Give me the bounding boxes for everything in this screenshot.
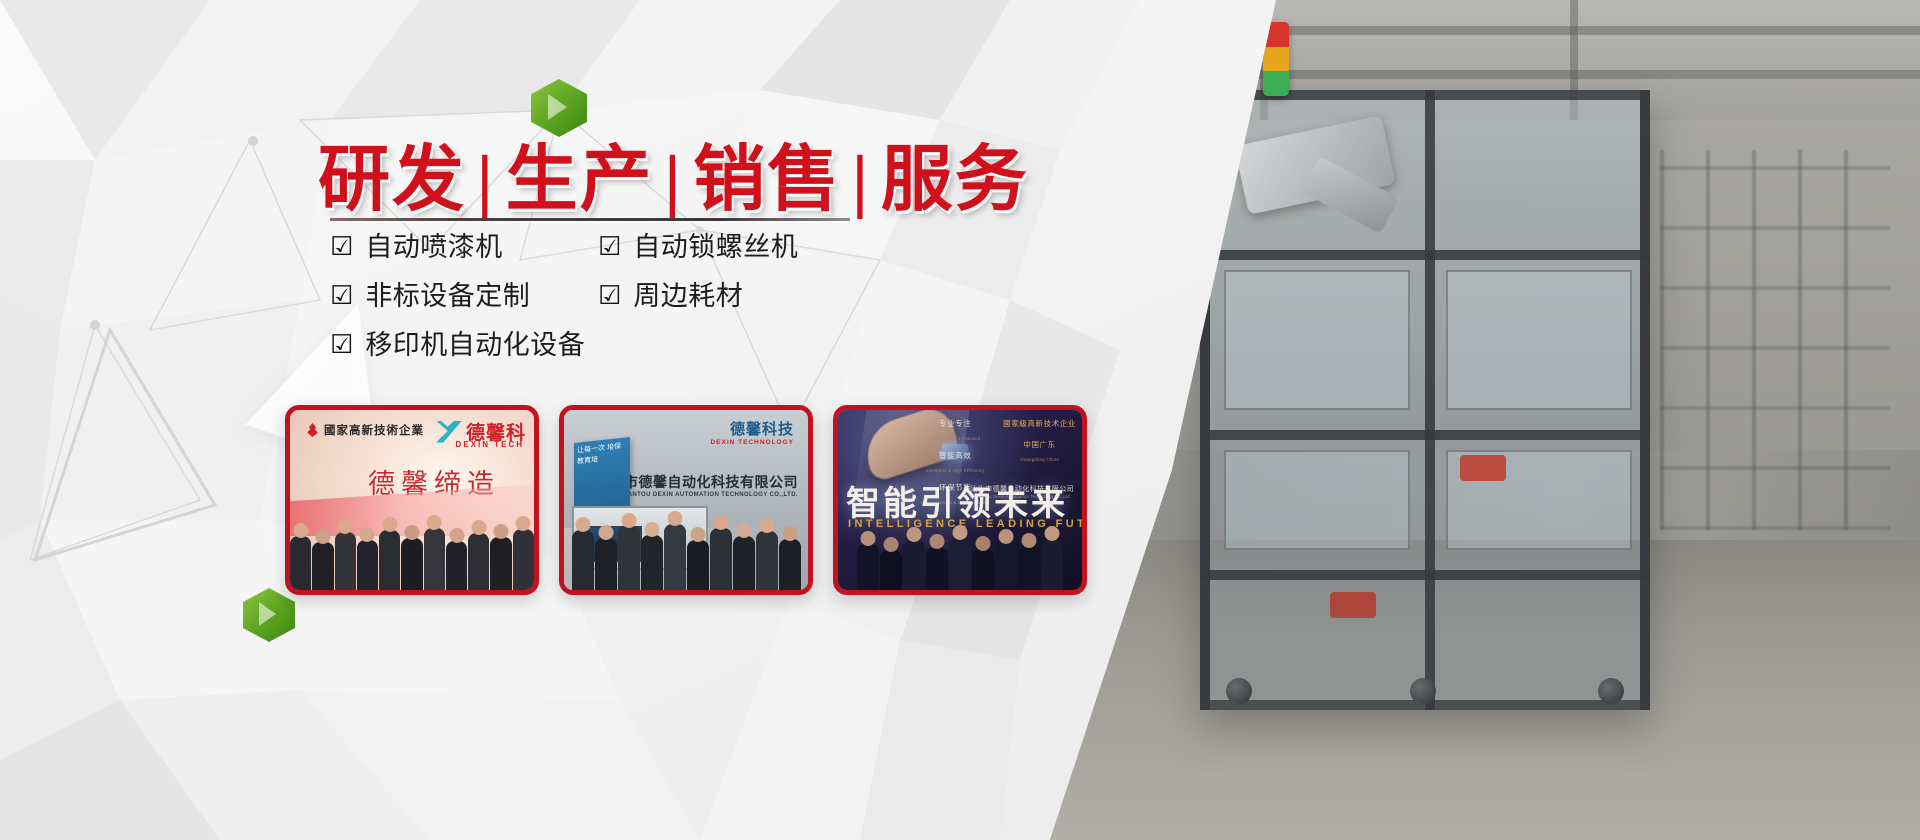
promo-banner: 研发|生产|销售|服务 ☑ 自动喷漆机 ☑ 自动锁螺丝机 ☑ 非标设备定制 ☑ … xyxy=(0,0,1920,840)
poster-text: 让每一次 培保教育培 xyxy=(574,437,630,472)
headline-word-1: 研发 xyxy=(318,137,466,221)
thumbnail-intelligent-future[interactable]: 专业专注 Professional & Focused 智能高效 Intelli… xyxy=(833,405,1087,595)
list-item: ☑ 非标设备定制 xyxy=(330,283,598,310)
flame-icon xyxy=(306,423,319,437)
high-tech-enterprise-badge: 國家高新技術企業 xyxy=(306,422,424,438)
headline-separator: | xyxy=(474,146,498,220)
thumbnail-company-lobby[interactable]: 德馨科技 DEXIN TECHNOLOGY 汕头市德馨自动化科技有限公司 SHA… xyxy=(559,405,813,595)
hexagon-play-icon xyxy=(243,588,295,642)
headline-word-3: 销售 xyxy=(693,137,841,221)
page-title: 研发|生产|销售|服务 xyxy=(318,120,1029,225)
group-photo-people xyxy=(838,498,1082,590)
brand-name-en: DEXIN TECH xyxy=(456,440,524,449)
checkbox-checked-icon: ☑ xyxy=(598,283,621,309)
list-item-label: 周边耗材 xyxy=(633,283,743,310)
headline-word-2: 生产 xyxy=(506,137,654,221)
list-item-label: 自动喷漆机 xyxy=(365,234,503,261)
group-photo-people xyxy=(290,498,534,590)
checkbox-checked-icon: ☑ xyxy=(598,234,621,260)
brand-name-cn: 德馨科技 xyxy=(710,418,794,439)
column-label-en: Intelligent & High Efficiency xyxy=(921,468,989,473)
headline-separator: | xyxy=(662,146,686,220)
list-item: ☑ 周边耗材 xyxy=(598,283,850,310)
right-label-cn: 中国广东 xyxy=(1003,439,1076,450)
right-label-en: Guangdong China xyxy=(1003,457,1076,462)
photo-thumbnail-gallery: 國家高新技術企業 德馨科 DEXIN TECH 德馨缔造 xyxy=(285,405,1087,595)
brand-name-en: DEXIN TECHNOLOGY xyxy=(710,439,794,446)
checkbox-checked-icon: ☑ xyxy=(330,283,353,309)
column-label-cn: 智能高效 xyxy=(921,450,989,461)
column-label-cn: 专业专注 xyxy=(921,418,989,429)
brand-logo: 德馨科技 DEXIN TECHNOLOGY xyxy=(710,418,794,446)
list-item: ☑ 自动喷漆机 xyxy=(330,234,598,261)
headline-separator: | xyxy=(849,146,873,220)
checkbox-checked-icon: ☑ xyxy=(330,332,353,358)
list-item-label: 非标设备定制 xyxy=(365,283,530,310)
list-item: ☑ 自动锁螺丝机 xyxy=(598,234,850,261)
thumbnail-exhibition-booth[interactable]: 國家高新技術企業 德馨科 DEXIN TECH 德馨缔造 xyxy=(285,405,539,595)
feature-list: ☑ 自动喷漆机 ☑ 自动锁螺丝机 ☑ 非标设备定制 ☑ 周边耗材 ☑ 移印机自动… xyxy=(330,234,850,359)
group-photo-people xyxy=(564,498,808,590)
column-label-en: Professional & Focused xyxy=(921,436,989,441)
badge-label: 國家高新技術企業 xyxy=(324,422,424,438)
brand-logo: 德馨科 DEXIN TECH xyxy=(436,418,526,445)
checkbox-checked-icon: ☑ xyxy=(330,234,353,260)
list-item-label: 移印机自动化设备 xyxy=(365,332,585,359)
right-label-cn: 國家級高新技术企业 xyxy=(1003,418,1076,429)
list-item-label: 自动锁螺丝机 xyxy=(633,234,798,261)
headline-word-4: 服务 xyxy=(881,137,1029,221)
list-item: ☑ 移印机自动化设备 xyxy=(330,332,850,359)
divider xyxy=(330,218,850,221)
